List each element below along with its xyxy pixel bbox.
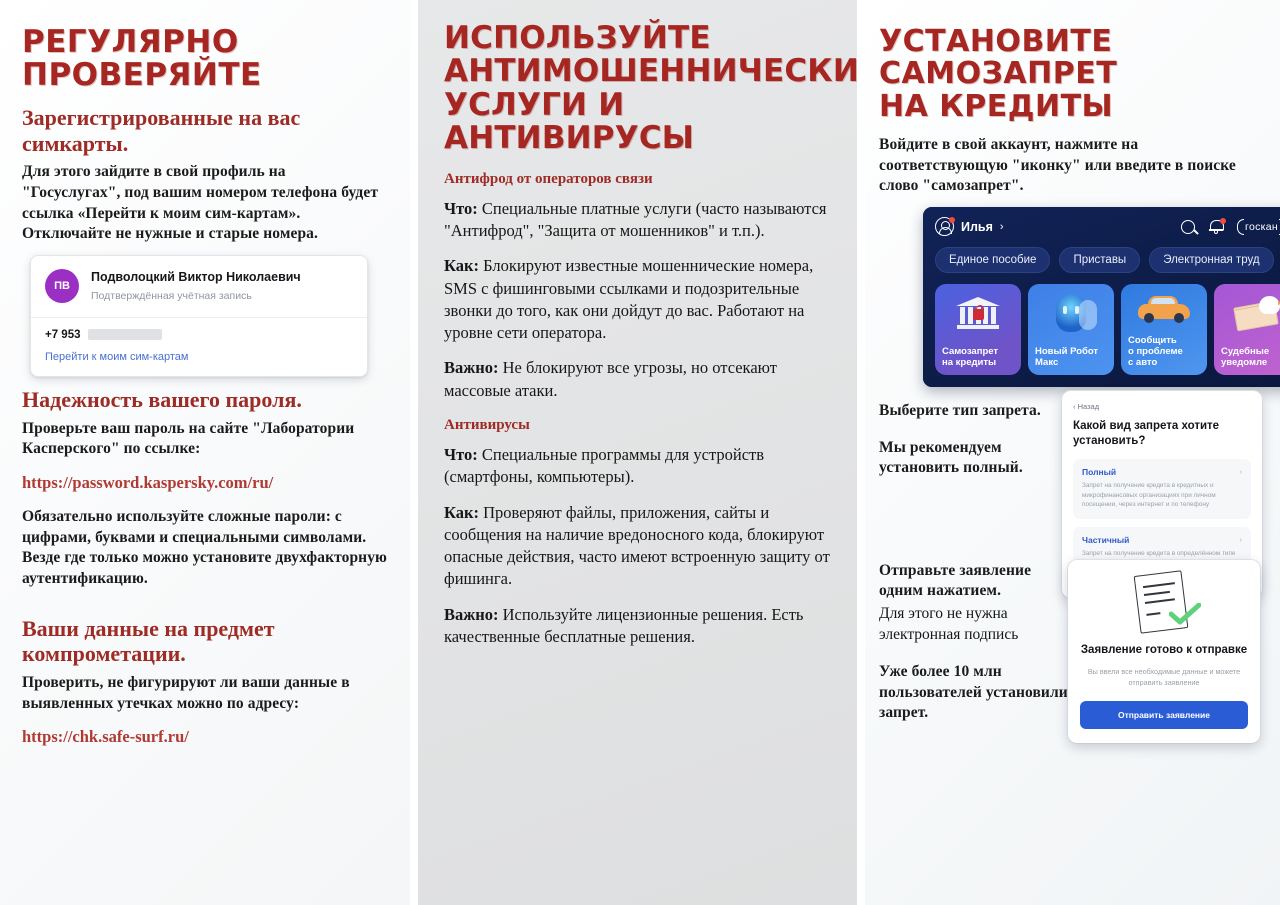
tile-label-4: Судебные уведомле (1221, 347, 1269, 369)
section-password-body2: Обязательно используйте сложные пароли: … (22, 507, 388, 589)
text-what: Специальные платные услуги (часто называ… (444, 199, 827, 240)
chip-elektronnaya-trudovaya[interactable]: Электронная труд (1149, 247, 1273, 273)
kaspersky-password-link[interactable]: https://password.kaspersky.com/ru/ (22, 472, 388, 493)
label-how: Как: (444, 256, 479, 275)
app-actions: госкан (1181, 219, 1280, 235)
tile-samozapret-na-kredity[interactable]: Самозапрет на кредиты (935, 284, 1021, 375)
antivirus-heading: Антивирусы (444, 416, 833, 434)
step3-send-normal: Для этого не нужна электронная подпись (879, 604, 1075, 646)
antivirus-item-what: Что: Специальные программы для устройств… (444, 444, 833, 489)
gosuslugi-app-screenshot[interactable]: Илья › госкан Единое пособие Приставы Эл… (923, 207, 1280, 387)
user-avatar-icon (935, 217, 954, 236)
option-polnyy[interactable]: Полный Запрет на получение кредита в кре… (1073, 459, 1251, 519)
label-important-2: Важно: (444, 605, 498, 624)
safe-surf-link[interactable]: https://chk.safe-surf.ru/ (22, 726, 388, 747)
bell-clapper-icon (1214, 231, 1218, 234)
tile-label-1: Самозапрет на кредиты (942, 347, 998, 369)
step2-text-wrap: Выберите тип запрета. Мы рекомендуем уст… (879, 401, 1075, 479)
label-what-2: Что: (444, 445, 478, 464)
app-user-button[interactable]: Илья › (935, 217, 1004, 236)
car-body-icon (1138, 296, 1190, 323)
ban-card-title: Какой вид запрета хотите установить? (1073, 419, 1251, 448)
text-important-2: Используйте лицензионные решения. Есть к… (444, 605, 803, 646)
sim-cards-link[interactable]: Перейти к моим сим-картам (31, 347, 367, 376)
chevron-right-icon-2: › (1240, 535, 1243, 544)
option-polnyy-title: Полный (1082, 467, 1242, 477)
avatar: ПВ (45, 269, 79, 303)
tile-novyy-robot-maks[interactable]: Новый Робот Макс (1028, 284, 1114, 375)
antivirus-item-important: Важно: Используйте лицензионные решения.… (444, 604, 833, 649)
column2-title: ИСПОЛЬЗУЙТЕ АНТИМОШЕННИЧЕСКИЕ УСЛУГИ И А… (444, 22, 833, 156)
section-leaks-heading: Ваши данные на предмет компрометации. (22, 616, 388, 667)
antifraud-item-how: Как: Блокируют известные мошеннические н… (444, 255, 833, 344)
app-quick-chips: Единое пособие Приставы Электронная труд (935, 247, 1280, 273)
column3-title: УСТАНОВИТЕ САМОЗАПРЕТ НА КРЕДИТЫ (879, 26, 1266, 123)
robot-icon (1028, 290, 1114, 336)
antivirus-item-how: Как: Проверяют файлы, приложения, сайты … (444, 502, 833, 591)
bell-alert-dot-icon (1220, 218, 1226, 224)
section-leaks-body: Проверить, не фигурируют ли ваши данные … (22, 673, 388, 714)
step3-text-wrap: Отправьте заявление одним нажатием. Для … (879, 561, 1075, 724)
lock-icon (973, 309, 984, 320)
envelope-icon (1235, 298, 1279, 328)
column-antifraud-antivirus: ИСПОЛЬЗУЙТЕ АНТИМОШЕННИЧЕСКИЕ УСЛУГИ И А… (418, 0, 857, 905)
bank-base (957, 325, 999, 329)
application-ready-card[interactable]: Заявление готово к отправке Вы ввели все… (1068, 560, 1260, 743)
column-regularly-check: РЕГУЛЯРНО ПРОВЕРЯЙТЕ Зарегистрированные … (0, 0, 410, 905)
spacer (22, 600, 388, 610)
section-password-body1: Проверьте ваш пароль на сайте "Лаборатор… (22, 419, 388, 460)
search-icon[interactable] (1181, 220, 1195, 234)
avatar-alert-dot-icon (949, 217, 955, 223)
ready-card-title: Заявление готово к отправке (1080, 643, 1248, 658)
car-icon (1121, 286, 1207, 332)
tile4-line2: уведомле (1221, 358, 1269, 369)
text-how-2: Проверяют файлы, приложения, сайты и соо… (444, 503, 830, 589)
app-inner: Илья › госкан Единое пособие Приставы Эл… (923, 207, 1280, 387)
column3-title-line2: САМОЗАПРЕТ (879, 58, 1266, 90)
profile-name: Подволоцкий Виктор Николаевич (91, 270, 301, 286)
step3-send-bold: Отправьте заявление одним нажатием. (879, 561, 1075, 602)
profile-status: Подтверждённая учётная запись (91, 290, 301, 302)
gosuslugi-profile-card[interactable]: ПВ Подволоцкий Виктор Николаевич Подтвер… (30, 255, 368, 377)
step2-choose-type: Выберите тип запрета. (879, 401, 1075, 422)
option-polnyy-desc: Запрет на получение кредита в кредитных … (1082, 481, 1242, 510)
tile-label-2: Новый Робот Макс (1035, 347, 1098, 369)
antifraud-item-what: Что: Специальные платные услуги (часто н… (444, 198, 833, 243)
back-link[interactable]: ‹ Назад (1073, 402, 1251, 411)
column-divider-right (857, 0, 865, 905)
envelope-dove-icon (1214, 290, 1280, 336)
column2-title-line2: АНТИМОШЕННИЧЕСКИЕ (444, 55, 833, 88)
ready-card-desc: Вы ввели все необходимые данные и можете… (1080, 666, 1248, 689)
label-how-2: Как: (444, 503, 479, 522)
app-service-tiles: Самозапрет на кредиты Новый Робот Макс (935, 284, 1280, 375)
step3-block: Отправьте заявление одним нажатием. Для … (879, 561, 1266, 724)
step4-users-count: Уже более 10 млн пользователей установил… (879, 662, 1075, 724)
tile2-line2: Макс (1035, 358, 1098, 369)
infographic-page: РЕГУЛЯРНО ПРОВЕРЯЙТЕ Зарегистрированные … (0, 0, 1280, 905)
step2-block: Выберите тип запрета. Мы рекомендуем уст… (879, 401, 1266, 479)
app-topbar: Илья › госкан (935, 217, 1280, 236)
app-username: Илья (961, 220, 993, 234)
green-check-icon (1169, 603, 1201, 625)
robot-shadow (1079, 300, 1097, 330)
column1-title: РЕГУЛЯРНО ПРОВЕРЯЙТЕ (22, 26, 388, 93)
bell-icon[interactable] (1209, 219, 1223, 234)
chip-edinoe-posobie[interactable]: Единое пособие (935, 247, 1050, 273)
column1-title-line1: РЕГУЛЯРНО (22, 26, 388, 59)
column-self-ban-credits: УСТАНОВИТЕ САМОЗАПРЕТ НА КРЕДИТЫ Войдите… (865, 0, 1280, 905)
column3-title-line1: УСТАНОВИТЕ (879, 26, 1266, 58)
car-wheel-right (1174, 313, 1184, 323)
section-simcards-body: Для этого зайдите в свой профиль на "Гос… (22, 162, 388, 244)
profile-phone-row: +7 953 (31, 318, 367, 347)
column3-intro: Войдите в свой аккаунт, нажмите на соотв… (879, 135, 1266, 197)
robot-body-icon (1056, 294, 1086, 332)
column2-title-line1: ИСПОЛЬЗУЙТЕ (444, 22, 833, 55)
column2-title-line3: УСЛУГИ И (444, 89, 833, 122)
tile1-line2: на кредиты (942, 358, 998, 369)
phone-redaction-bar (88, 329, 162, 340)
label-what: Что: (444, 199, 478, 218)
phone-prefix: +7 953 (45, 329, 81, 341)
tile-soobshchit-o-probleme-s-avto[interactable]: Сообщить о проблеме с авто (1121, 284, 1207, 375)
section-password-heading: Надежность вашего пароля. (22, 387, 388, 413)
chevron-right-icon: › (1000, 221, 1004, 233)
label-important: Важно: (444, 358, 498, 377)
chip-pristavy[interactable]: Приставы (1059, 247, 1140, 273)
dove-icon (1259, 296, 1280, 314)
option-chastichnyy-title: Частичный (1082, 535, 1242, 545)
profile-header: ПВ Подволоцкий Виктор Николаевич Подтвер… (31, 256, 367, 318)
tile3-line3: с авто (1128, 358, 1183, 369)
chevron-right-icon-1: › (1240, 467, 1243, 476)
send-application-button[interactable]: Отправить заявление (1080, 701, 1248, 729)
antifraud-heading: Антифрод от операторов связи (444, 170, 833, 188)
bank-building-icon (956, 297, 1000, 329)
column1-title-line2: ПРОВЕРЯЙТЕ (22, 59, 388, 92)
antifraud-item-important: Важно: Не блокируют все угрозы, но отсек… (444, 357, 833, 402)
bank-lock-icon (935, 290, 1021, 336)
text-what-2: Специальные программы для устройств (сма… (444, 445, 764, 486)
tile-sudebnye-uvedomleniya[interactable]: Судебные уведомле (1214, 284, 1280, 375)
text-how: Блокируют известные мошеннические номера… (444, 256, 813, 342)
column-divider-left (410, 0, 418, 905)
tile-label-3: Сообщить о проблеме с авто (1128, 336, 1183, 369)
column3-title-line3: НА КРЕДИТЫ (879, 91, 1266, 123)
document-check-icon (1129, 573, 1199, 633)
column2-title-line4: АНТИВИРУСЫ (444, 122, 833, 155)
section-simcards-heading: Зарегистрированные на вас симкарты. (22, 105, 388, 156)
step2-recommend-full: Мы рекомендуем установить полный. (879, 438, 1075, 479)
car-wheel-left (1144, 313, 1154, 323)
goskan-button[interactable]: госкан (1237, 219, 1280, 235)
